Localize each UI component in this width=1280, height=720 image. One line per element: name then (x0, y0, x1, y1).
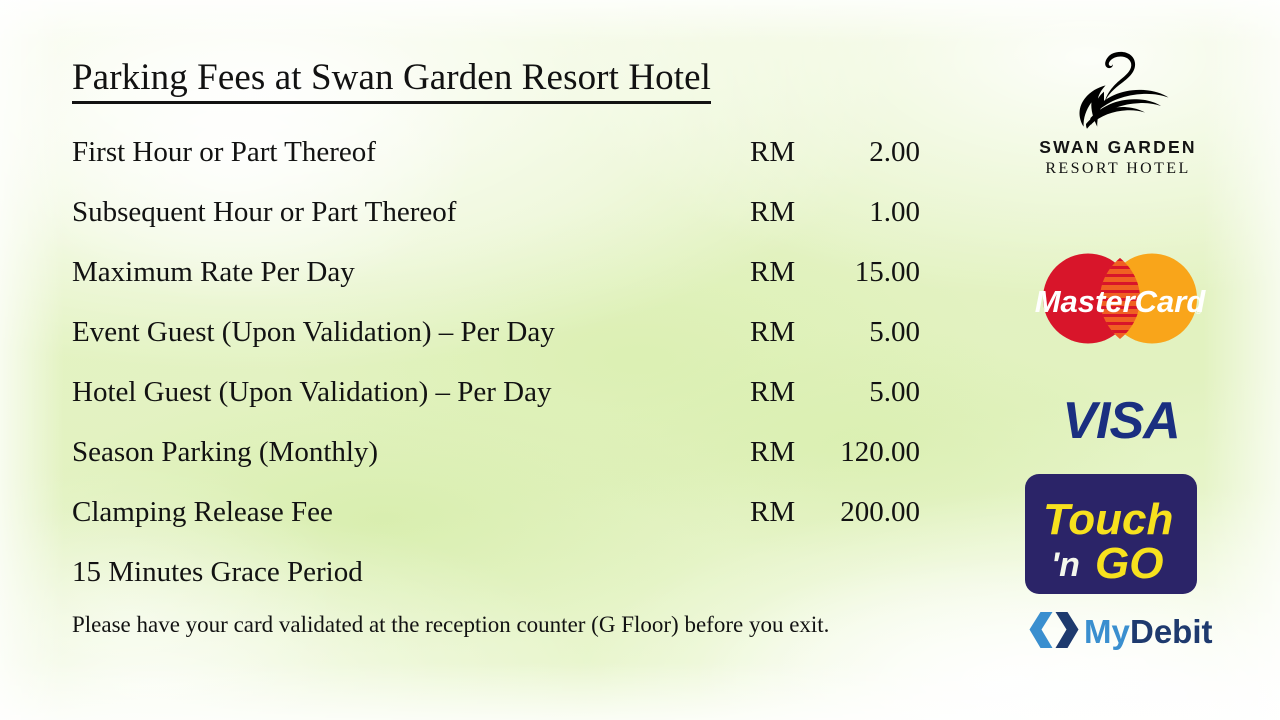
table-row: Event Guest (Upon Validation) – Per Day … (72, 310, 922, 370)
table-row: Subsequent Hour or Part Thereof RM 1.00 (72, 190, 922, 250)
fee-label: Event Guest (Upon Validation) – Per Day (72, 310, 555, 354)
mastercard-registered-mark: ® (1195, 306, 1202, 316)
mydebit-word-debit: Debit (1130, 613, 1213, 650)
parking-fees-slide: Parking Fees at Swan Garden Resort Hotel… (0, 0, 1280, 720)
touch-n-go-word-n: 'n (1051, 546, 1080, 584)
chevron-diamond-icon (1030, 612, 1079, 648)
fee-label: 15 Minutes Grace Period (72, 550, 363, 594)
table-row: Maximum Rate Per Day RM 15.00 (72, 250, 922, 310)
table-row: First Hour or Part Thereof RM 2.00 (72, 130, 922, 190)
hotel-logo: SWAN GARDEN RESORT HOTEL (1018, 48, 1218, 178)
table-row: Clamping Release Fee RM 200.00 (72, 490, 922, 550)
fee-label: Maximum Rate Per Day (72, 250, 355, 294)
fee-label: First Hour or Part Thereof (72, 130, 376, 174)
mydebit-logo: My Debit (1022, 608, 1218, 652)
table-row: Hotel Guest (Upon Validation) – Per Day … (72, 370, 922, 430)
table-row: 15 Minutes Grace Period (72, 550, 922, 610)
fee-label: Clamping Release Fee (72, 490, 333, 534)
page-title-text: Parking Fees at Swan Garden Resort Hotel (72, 57, 711, 104)
validation-note: Please have your card validated at the r… (72, 612, 829, 638)
fee-amount: 5.00 (772, 370, 920, 414)
hotel-subtitle: RESORT HOTEL (1018, 160, 1218, 178)
fee-amount: 15.00 (772, 250, 920, 294)
swan-icon (1064, 48, 1172, 134)
fees-content: Parking Fees at Swan Garden Resort Hotel… (0, 0, 1000, 720)
mastercard-wordmark: MasterCard (1035, 284, 1207, 319)
fee-amount: 200.00 (772, 490, 920, 534)
visa-wordmark: VISA (1062, 392, 1179, 450)
fee-label: Subsequent Hour or Part Thereof (72, 190, 456, 234)
mydebit-word-my: My (1084, 613, 1130, 650)
fee-label: Season Parking (Monthly) (72, 430, 378, 474)
fees-list: First Hour or Part Thereof RM 2.00 Subse… (72, 130, 922, 610)
touch-n-go-logo: Touch 'n GO (1023, 472, 1199, 596)
fee-label: Hotel Guest (Upon Validation) – Per Day (72, 370, 552, 414)
hotel-name: SWAN GARDEN (1018, 137, 1218, 158)
touch-n-go-word-go: GO (1095, 539, 1163, 588)
fee-amount: 1.00 (772, 190, 920, 234)
fee-amount: 2.00 (772, 130, 920, 174)
mastercard-logo: MasterCard ® (1032, 252, 1208, 362)
logo-rail: SWAN GARDEN RESORT HOTEL (1010, 0, 1270, 720)
visa-logo: VISA (1028, 388, 1214, 450)
fee-amount: 120.00 (772, 430, 920, 474)
page-title: Parking Fees at Swan Garden Resort Hotel (72, 58, 711, 99)
touch-n-go-word-touch: Touch (1043, 495, 1173, 544)
table-row: Season Parking (Monthly) RM 120.00 (72, 430, 922, 490)
fee-amount: 5.00 (772, 310, 920, 354)
